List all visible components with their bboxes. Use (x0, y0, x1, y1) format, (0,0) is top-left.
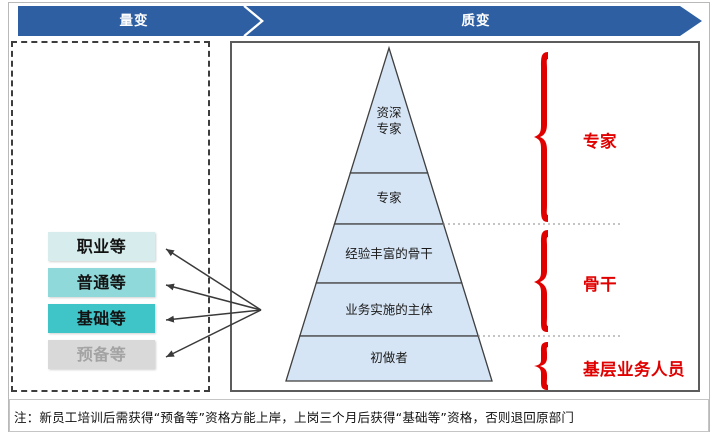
brace-label-expert: 专家 (583, 128, 617, 152)
band-label-qualitative: 质变 (250, 6, 702, 36)
footer-note-text: 注：新员工培训后需获得“预备等”资格方能上岸，上岗三个月后获得“基础等”资格，否… (14, 407, 574, 426)
grade-chip-yubei[interactable]: 预备等 (48, 340, 155, 369)
pyramid-label-senior-expert: 资深 专家 (349, 105, 429, 137)
brace-label-frontline: 基层业务人员 (583, 356, 685, 380)
phase-band: 量变 质变 (18, 6, 702, 36)
grade-chip-putong[interactable]: 普通等 (48, 268, 155, 297)
brace-label-backbone: 骨干 (583, 271, 617, 295)
pyramid-label-main-body: 业务实施的主体 (329, 302, 449, 318)
slide-canvas: 量变 质变 职业等 普通等 基础等 预备等 (0, 0, 717, 437)
pyramid-label-beginner: 初做者 (349, 350, 429, 366)
pyramid-label-experienced-backbone: 经验丰富的骨干 (329, 246, 449, 262)
pyramid-label-expert: 专家 (349, 190, 429, 206)
grade-chip-zhiye[interactable]: 职业等 (48, 232, 155, 261)
grade-chip-jichu[interactable]: 基础等 (48, 304, 155, 333)
qualitative-change-panel (230, 41, 700, 392)
band-label-quantitative: 量变 (18, 6, 250, 36)
